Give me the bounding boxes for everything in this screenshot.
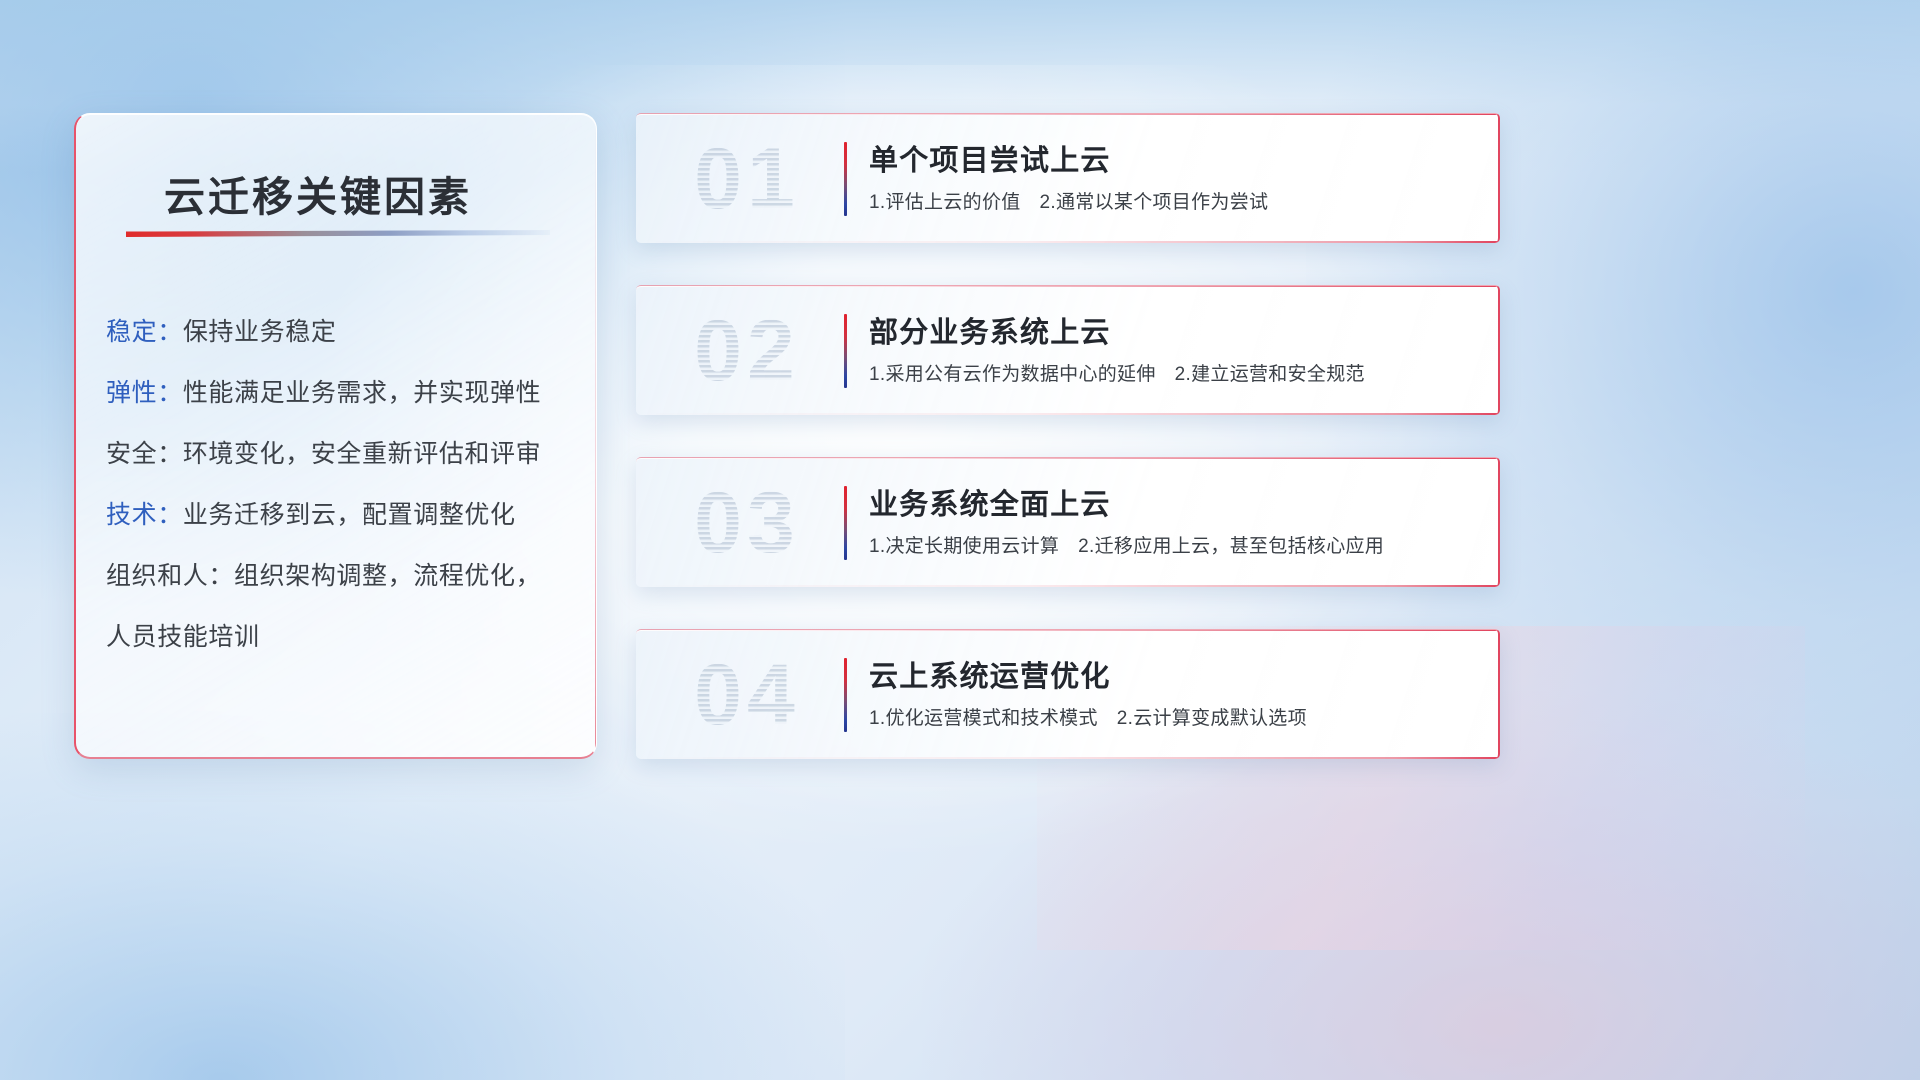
- stage-number: 04: [662, 644, 832, 746]
- key-factor-label: 组织和人：: [106, 562, 234, 590]
- stage-point: 2.建立运营和安全规范: [1175, 364, 1365, 385]
- key-factor-item: 弹性：性能满足业务需求，并实现弹性: [106, 363, 576, 424]
- key-factor-item: 技术：业务迁移到云，配置调整优化: [106, 485, 576, 546]
- stage-number: 01: [662, 128, 832, 230]
- key-factors-card: 云迁移关键因素 稳定：保持业务稳定弹性：性能满足业务需求，并实现弹性安全：环境变…: [74, 113, 597, 759]
- key-factor-text-line2: 人员技能培训: [106, 623, 260, 651]
- title-underline: [126, 230, 550, 237]
- stage-accent-bar: [844, 142, 847, 216]
- stage-point: 1.采用公有云作为数据中心的延伸: [869, 364, 1156, 385]
- stage-description: 1.决定长期使用云计算2.迁移应用上云，甚至包括核心应用: [869, 531, 1384, 558]
- stage-title: 部分业务系统上云: [869, 309, 1111, 351]
- key-factor-text: 性能满足业务需求，并实现弹性: [183, 379, 541, 407]
- key-factor-item: 组织和人：组织架构调整，流程优化，人员技能培训: [106, 546, 576, 668]
- stage-number: 03: [662, 472, 832, 574]
- stage-point: 2.云计算变成默认选项: [1117, 708, 1307, 729]
- key-factor-text: 保持业务稳定: [183, 318, 337, 346]
- migration-stage-card[interactable]: 04云上系统运营优化1.优化运营模式和技术模式2.云计算变成默认选项: [636, 629, 1500, 759]
- slide-stage: 云迁移关键因素 稳定：保持业务稳定弹性：性能满足业务需求，并实现弹性安全：环境变…: [0, 0, 1920, 1080]
- stage-description: 1.采用公有云作为数据中心的延伸2.建立运营和安全规范: [869, 359, 1365, 386]
- key-factor-item: 稳定：保持业务稳定: [106, 302, 576, 363]
- stage-title: 单个项目尝试上云: [869, 137, 1111, 179]
- stage-title: 业务系统全面上云: [869, 481, 1111, 523]
- stage-number: 02: [662, 300, 832, 402]
- key-factors-list: 稳定：保持业务稳定弹性：性能满足业务需求，并实现弹性安全：环境变化，安全重新评估…: [106, 302, 576, 668]
- page-title: 云迁移关键因素: [164, 163, 564, 223]
- stage-point: 2.通常以某个项目作为尝试: [1040, 192, 1269, 213]
- stage-description: 1.评估上云的价值2.通常以某个项目作为尝试: [869, 187, 1268, 214]
- key-factor-text: 组织架构调整，流程优化，: [234, 562, 541, 590]
- key-factor-label: 技术：: [106, 501, 183, 529]
- stage-description: 1.优化运营模式和技术模式2.云计算变成默认选项: [869, 703, 1307, 730]
- key-factor-label: 安全：: [106, 440, 183, 468]
- stage-accent-bar: [844, 314, 847, 388]
- key-factor-text: 环境变化，安全重新评估和评审: [183, 440, 541, 468]
- stage-point: 2.迁移应用上云，甚至包括核心应用: [1078, 536, 1384, 557]
- stage-title: 云上系统运营优化: [869, 653, 1111, 695]
- migration-stage-card[interactable]: 02部分业务系统上云1.采用公有云作为数据中心的延伸2.建立运营和安全规范: [636, 285, 1500, 415]
- stage-accent-bar: [844, 658, 847, 732]
- key-factor-item: 安全：环境变化，安全重新评估和评审: [106, 424, 576, 485]
- stage-point: 1.决定长期使用云计算: [869, 536, 1059, 557]
- stage-point: 1.评估上云的价值: [869, 192, 1021, 213]
- migration-stage-card[interactable]: 01单个项目尝试上云1.评估上云的价值2.通常以某个项目作为尝试: [636, 113, 1500, 243]
- key-factor-text: 业务迁移到云，配置调整优化: [183, 501, 516, 529]
- stage-point: 1.优化运营模式和技术模式: [869, 708, 1098, 729]
- key-factor-label: 稳定：: [106, 318, 183, 346]
- stage-accent-bar: [844, 486, 847, 560]
- migration-stage-card[interactable]: 03业务系统全面上云1.决定长期使用云计算2.迁移应用上云，甚至包括核心应用: [636, 457, 1500, 587]
- key-factor-label: 弹性：: [106, 379, 183, 407]
